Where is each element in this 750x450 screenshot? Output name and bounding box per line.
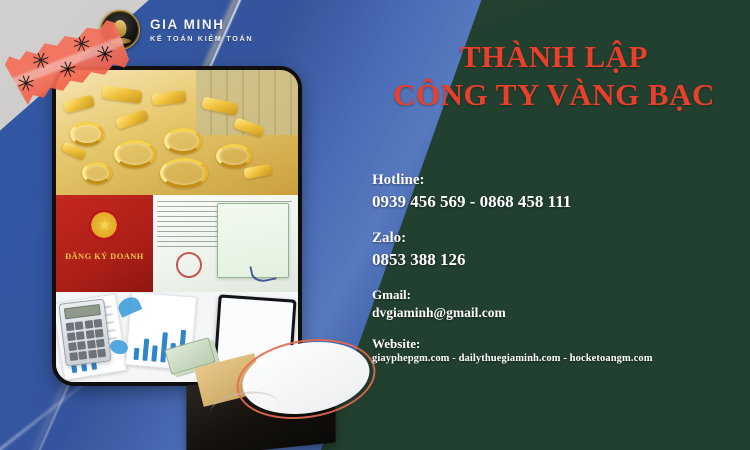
business-registration-certificate-photo: ★ ĐĂNG KÝ DOANH xyxy=(56,195,298,292)
brand-name: GIA MINH xyxy=(150,17,253,33)
gold-ring-shape xyxy=(164,128,202,154)
brand-tagline: KẾ TOÁN KIỂM TOÁN xyxy=(150,35,253,43)
contact-website: Website: giayphepgm.com - dailythuegiami… xyxy=(372,335,742,367)
contact-gmail: Gmail: dvgiaminh@gmail.com xyxy=(372,286,742,322)
gold-piece-shape xyxy=(243,164,272,180)
gold-piece-shape xyxy=(115,109,149,129)
gold-ring-shape xyxy=(216,144,252,168)
certificate-red-cover: ★ ĐĂNG KÝ DOANH xyxy=(56,195,153,292)
calculator-icon xyxy=(58,298,111,366)
gold-ring-shape xyxy=(114,140,156,168)
poster-canvas: GIA MINH KẾ TOÁN KIỂM TOÁN ✳ ✳ ✳ ✳ ✳ xyxy=(0,0,750,450)
gold-ring-shape xyxy=(160,158,208,188)
calculator-screen xyxy=(64,304,101,319)
asterisk-glyph: ✳ xyxy=(56,57,81,84)
gold-piece-shape xyxy=(151,90,186,105)
zalo-label: Zalo: xyxy=(372,228,742,248)
zalo-value[interactable]: 0853 388 126 xyxy=(372,248,742,272)
website-label: Website: xyxy=(372,335,742,353)
gmail-label: Gmail: xyxy=(372,286,742,304)
website-value[interactable]: giayphepgm.com - dailythuegiaminh.com - … xyxy=(372,352,742,367)
brand-text: GIA MINH KẾ TOÁN KIỂM TOÁN xyxy=(150,17,253,44)
red-seal-stamp-icon xyxy=(176,252,202,278)
contact-zalo: Zalo: 0853 388 126 xyxy=(372,228,742,272)
bottom-decoration-group xyxy=(176,334,382,450)
page-title: THÀNH LẬP CÔNG TY VÀNG BẠC xyxy=(370,38,738,115)
hotline-label: Hotline: xyxy=(372,170,742,190)
gold-piece-shape xyxy=(63,95,95,114)
calculator-keys xyxy=(66,318,106,360)
gmail-value[interactable]: dvgiaminh@gmail.com xyxy=(372,304,742,323)
gold-piece-shape xyxy=(101,85,142,103)
gold-jewelry-photo xyxy=(56,70,298,195)
contact-hotline: Hotline: 0939 456 569 - 0868 458 111 xyxy=(372,170,742,214)
title-line-2: CÔNG TY VÀNG BẠC xyxy=(370,76,738,114)
certificate-paper xyxy=(153,195,298,292)
contact-info-block: Hotline: 0939 456 569 - 0868 458 111 Zal… xyxy=(372,170,742,381)
vietnam-emblem-icon: ★ xyxy=(89,210,119,240)
title-line-1: THÀNH LẬP xyxy=(370,38,738,76)
gold-ring-shape xyxy=(82,162,112,184)
certificate-cover-title: ĐĂNG KÝ DOANH xyxy=(60,251,149,261)
hotline-value[interactable]: 0939 456 569 - 0868 458 111 xyxy=(372,190,742,214)
gold-ring-shape xyxy=(70,122,104,146)
